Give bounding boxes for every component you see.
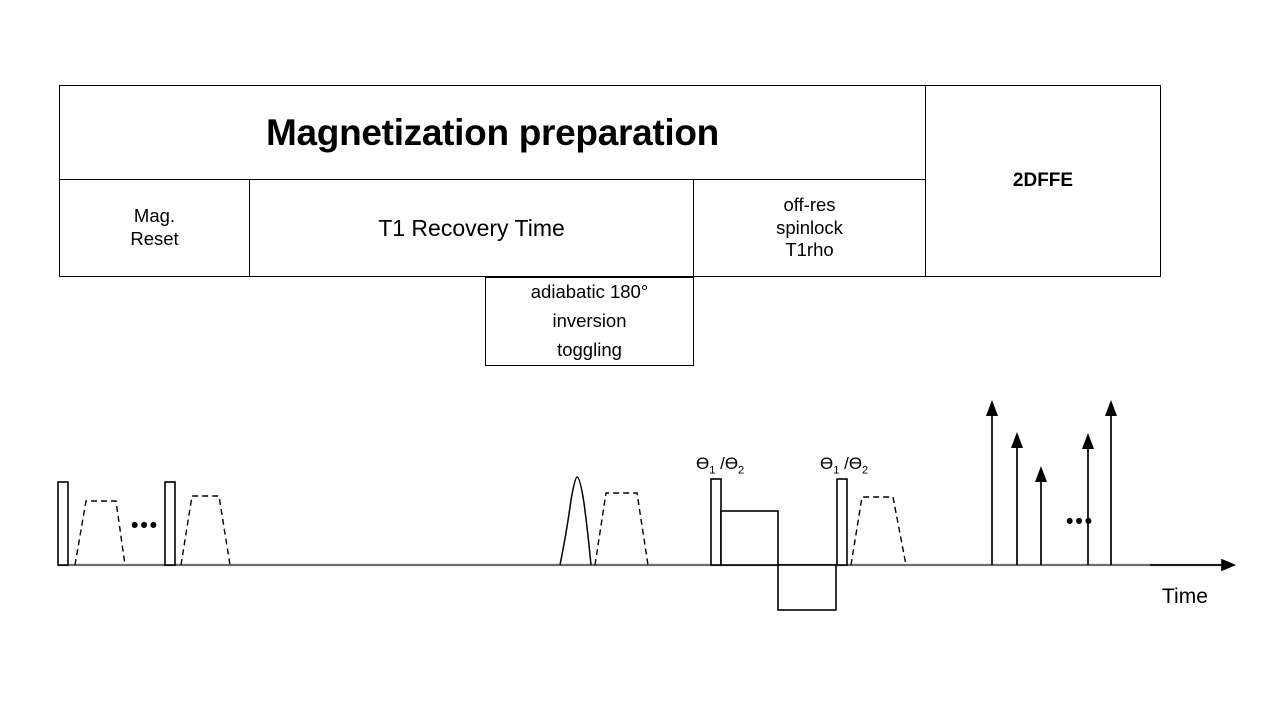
readout-echo-n [1105,400,1117,565]
readout-echo-1 [986,400,998,565]
mag-reset-label: Mag. Reset [130,205,178,250]
adiabatic-inversion-box: adiabatic 180° inversion toggling [485,277,694,366]
adiabatic-inversion-pulse [560,477,591,565]
spoiler-gradient-inversion [595,493,648,565]
spoiler-gradient-mag-reset-n [181,496,230,565]
table-cell-t1-recovery-time: T1 Recovery Time [249,179,694,277]
time-axis-arrowhead [1222,560,1234,570]
readout-echo-n-1 [1082,433,1094,565]
readout-repeat-ellipsis: ••• [1066,510,1094,534]
rf-pulse-mag-reset-1 [58,482,68,565]
readout-echo-2 [1011,432,1023,565]
readout-module-label: 2DFFE [1013,169,1073,192]
theta-glyph-2b: ϴ [849,454,862,473]
theta-separator-2: / [839,454,848,473]
rf-pulse-spinlock-2 [837,479,847,565]
adiabatic-line-1: adiabatic 180° [531,278,648,307]
time-axis-label: Time [1162,585,1208,609]
readout-echo-3 [1035,466,1047,565]
theta-sub-2b: 2 [862,464,868,476]
table-cell-magnetization-preparation: Magnetization preparation [59,85,926,180]
rf-pulse-mag-reset-n [165,482,175,565]
spoiler-gradient-mag-reset-1 [75,501,125,565]
theta-separator-1: / [715,454,724,473]
spoiler-gradient-spinlock [851,497,906,565]
adiabatic-line-2: inversion [552,307,626,336]
table-cell-2dffe: 2DFFE [925,85,1161,277]
spinlock-block-negative [778,565,836,610]
theta-sub-1b: 2 [738,464,744,476]
phase-table: Magnetization preparation Mag. Reset T1 … [59,85,1161,277]
off-res-line-1: off-res [776,194,843,217]
mag-reset-repeat-ellipsis: ••• [131,514,159,538]
off-res-label: off-res spinlock T1rho [776,194,843,262]
spinlock-flip-angle-label-1: ϴ1 /ϴ2 [696,454,744,476]
theta-glyph-2a: ϴ [820,454,833,473]
theta-glyph-1b: ϴ [725,454,738,473]
magnetization-preparation-label: Magnetization preparation [266,110,719,155]
table-cell-off-res-spinlock: off-res spinlock T1rho [693,179,926,277]
mag-reset-line-1: Mag. [130,205,178,228]
spinlock-flip-angle-label-2: ϴ1 /ϴ2 [820,454,868,476]
spinlock-block-positive [721,511,778,565]
rf-pulse-spinlock-1 [711,479,721,565]
table-cell-mag-reset: Mag. Reset [59,179,250,277]
off-res-line-2: spinlock [776,217,843,240]
adiabatic-line-3: toggling [557,336,622,365]
off-res-line-3: T1rho [776,239,843,262]
pulse-sequence-diagram [0,380,1280,630]
t1-recovery-time-label: T1 Recovery Time [378,214,565,242]
mag-reset-line-2: Reset [130,228,178,251]
theta-glyph-1a: ϴ [696,454,709,473]
